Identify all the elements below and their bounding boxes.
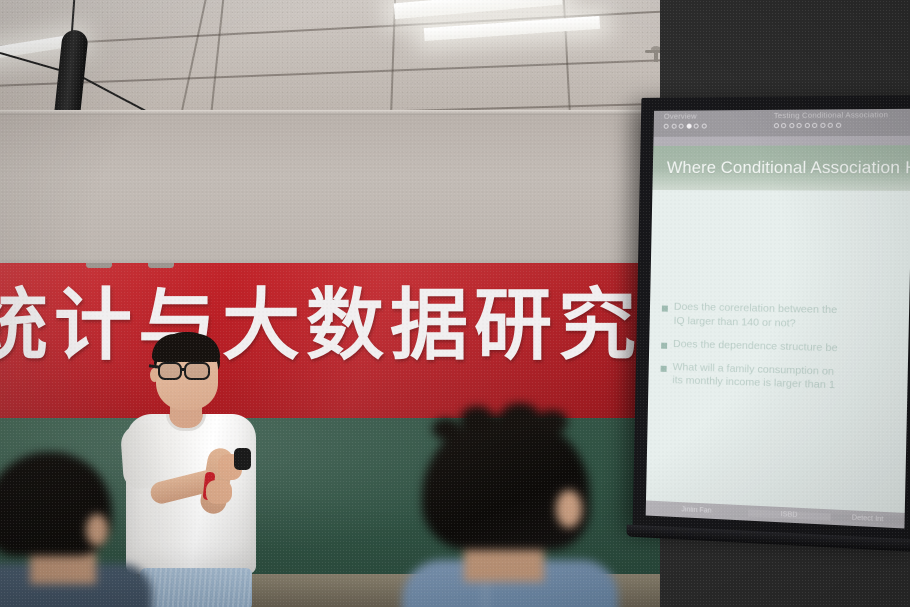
- nav-dot[interactable]: [820, 122, 825, 127]
- bullet-text: Does the dependence structure be: [673, 338, 838, 356]
- beamer-navigation-bar[interactable]: Overview Testing Conditional Association: [654, 109, 910, 137]
- glasses-lens-icon: [184, 362, 210, 380]
- audience-member-left: [0, 452, 150, 607]
- nav-dot[interactable]: [804, 122, 809, 127]
- banner-clip: [86, 263, 112, 268]
- presenter-jeans: [140, 568, 252, 607]
- nav-dot[interactable]: [664, 123, 669, 128]
- nav-section-label: Overview: [664, 111, 764, 121]
- list-item: Does the dependence structure be: [661, 337, 908, 357]
- nav-dot[interactable]: [774, 123, 779, 128]
- nav-section-overview[interactable]: Overview: [654, 110, 764, 137]
- nav-dots-testing[interactable]: [774, 122, 910, 128]
- bullet-text: What will a family consumption on its mo…: [672, 361, 835, 394]
- slide-title: Where Conditional Association H: [667, 158, 910, 178]
- slide-body: Does the corerelation between the IQ lar…: [646, 190, 910, 513]
- presentation-slide: Overview Testing Conditional Association: [646, 109, 910, 529]
- nav-section-testing-conditional-association[interactable]: Testing Conditional Association: [763, 109, 910, 137]
- nav-dot[interactable]: [701, 123, 706, 128]
- nav-dot[interactable]: [836, 122, 841, 127]
- glasses-bridge-icon: [181, 368, 186, 371]
- event-banner: 统计与大数据研究院博士研: [0, 263, 648, 421]
- nav-dot[interactable]: [797, 122, 802, 127]
- nav-dot[interactable]: [789, 123, 794, 128]
- bullet-line: Does the dependence structure be: [673, 338, 838, 356]
- presenter-hair-front: [152, 334, 220, 362]
- wall-texture: [0, 110, 660, 275]
- presentation-clicker[interactable]: [234, 448, 251, 470]
- footer-title: Detect Int: [831, 513, 905, 524]
- nav-dot[interactable]: [671, 123, 676, 128]
- nav-dot[interactable]: [694, 123, 699, 128]
- list-item: What will a family consumption on its mo…: [660, 360, 908, 396]
- glasses-lens-icon: [158, 362, 182, 380]
- nav-dot[interactable]: [679, 123, 684, 128]
- projection-screen[interactable]: Overview Testing Conditional Association: [633, 95, 910, 543]
- bullet-text: Does the corerelation between the IQ lar…: [673, 301, 837, 333]
- nav-section-label: Testing Conditional Association: [774, 110, 910, 120]
- audience-ear: [556, 490, 582, 528]
- wall: [0, 110, 660, 275]
- bullet-square-icon: [662, 305, 668, 311]
- ceiling: [0, 0, 660, 118]
- bullet-square-icon: [661, 365, 667, 371]
- nav-dot[interactable]: [812, 122, 817, 127]
- audience-member-center: [408, 414, 608, 607]
- footer-author: Jinlin Fan: [646, 504, 748, 516]
- presenter-left-hand: [206, 480, 232, 504]
- wall-trim: [0, 110, 660, 115]
- footer-institute: ISBD: [748, 509, 831, 520]
- banner-text: 统计与大数据研究院博士研: [0, 287, 648, 365]
- audience-ear: [86, 514, 108, 546]
- nav-dot[interactable]: [828, 122, 833, 127]
- nav-dots-overview[interactable]: [664, 123, 764, 129]
- slide-bullet-list: Does the corerelation between the IQ lar…: [660, 300, 909, 405]
- banner-clip: [148, 263, 174, 268]
- bullet-square-icon: [661, 342, 667, 348]
- lecture-hall-photo: 统计与大数据研究院博士研 Overview: [0, 0, 910, 607]
- nav-dot-active[interactable]: [686, 123, 691, 128]
- nav-dot[interactable]: [781, 123, 786, 128]
- list-item: Does the corerelation between the IQ lar…: [661, 300, 909, 334]
- slide-title-bar: Where Conditional Association H: [652, 145, 910, 191]
- sprinkler-icon: [645, 46, 660, 62]
